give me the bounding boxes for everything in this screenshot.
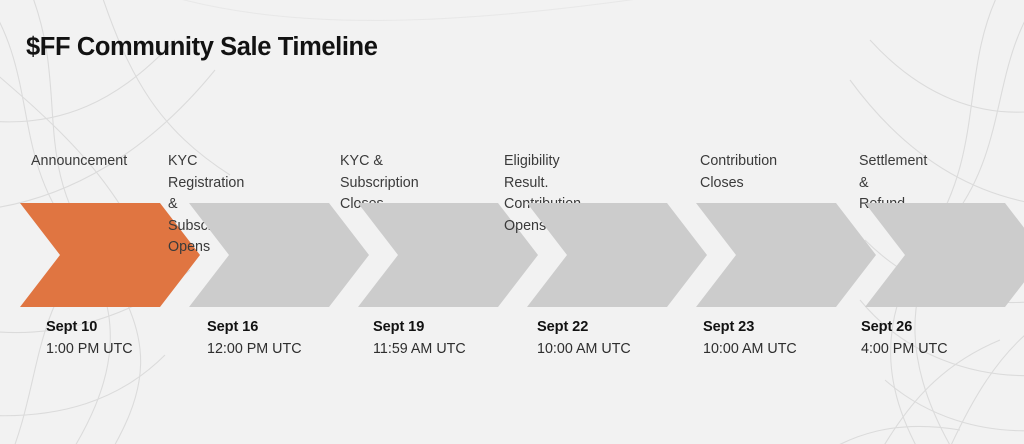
page-title: $FF Community Sale Timeline [26,33,377,62]
timeline-step-label: Contribution Closes [700,151,777,194]
timeline-step-time-value: 11:59 AM UTC [373,339,466,360]
chevron-shape [696,203,876,307]
timeline-step-label: Announcement [31,151,127,173]
chevron-shape [865,203,1024,307]
timeline-step-time-value: 12:00 PM UTC [207,339,302,360]
timeline-step-date: Sept 1612:00 PM UTC [207,318,302,360]
timeline-step-time-value: 4:00 PM UTC [861,339,948,360]
timeline-step-date-value: Sept 16 [207,318,302,337]
timeline: AnnouncementSept 101:00 PM UTCKYC Regist… [0,0,1024,444]
timeline-step-date-value: Sept 19 [373,318,466,337]
chevron-shape [527,203,707,307]
timeline-step-date: Sept 264:00 PM UTC [861,318,948,360]
timeline-chevron[interactable] [527,203,707,307]
timeline-step-time-value: 10:00 AM UTC [537,339,631,360]
timeline-step-date: Sept 2210:00 AM UTC [537,318,631,360]
timeline-step-time-value: 1:00 PM UTC [46,339,133,360]
timeline-step-date-value: Sept 26 [861,318,948,337]
chevron-shape [189,203,369,307]
timeline-chevron[interactable] [189,203,369,307]
timeline-step-date-value: Sept 22 [537,318,631,337]
timeline-chevron[interactable] [696,203,876,307]
timeline-step-date: Sept 101:00 PM UTC [46,318,133,360]
timeline-step-date-value: Sept 23 [703,318,797,337]
timeline-step-date-value: Sept 10 [46,318,133,337]
timeline-step-time-value: 10:00 AM UTC [703,339,797,360]
timeline-step-date: Sept 2310:00 AM UTC [703,318,797,360]
timeline-step-date: Sept 1911:59 AM UTC [373,318,466,360]
timeline-chevron[interactable] [865,203,1024,307]
